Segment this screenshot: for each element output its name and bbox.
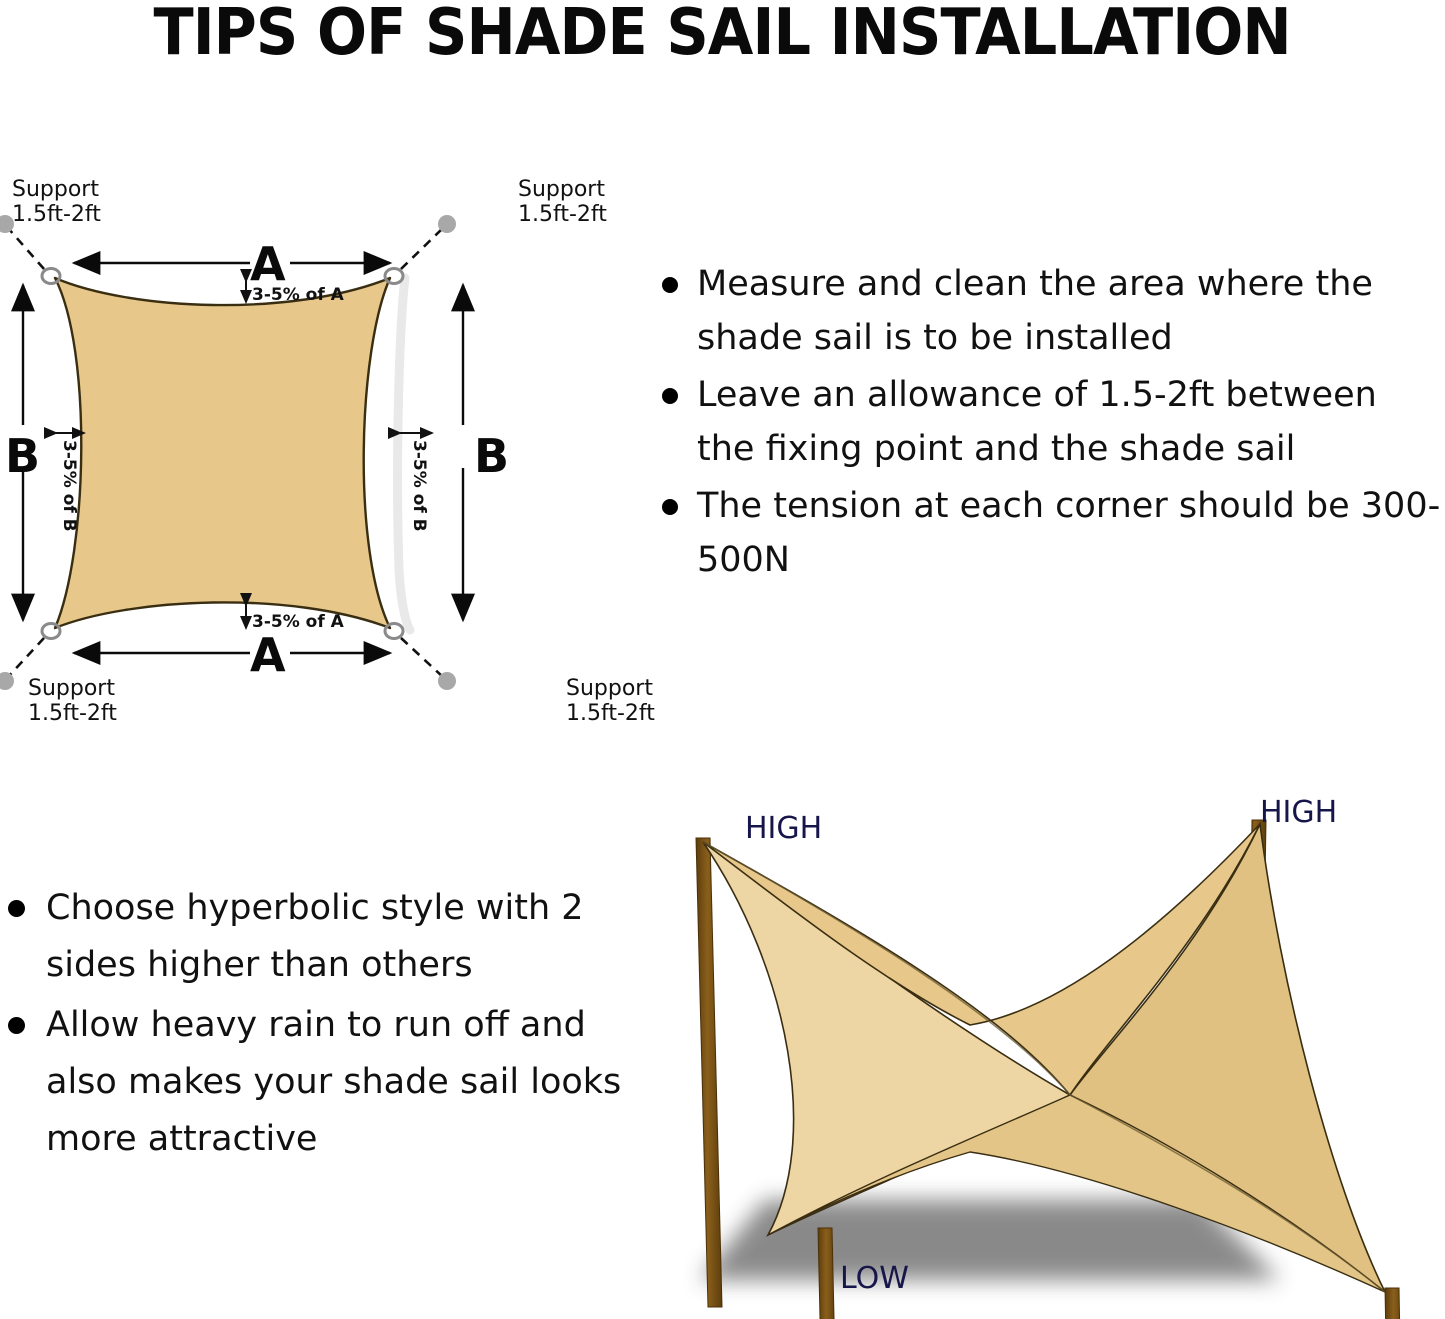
d-ring-bottom-left	[42, 624, 60, 639]
d-ring-top-left	[42, 269, 60, 284]
support-dot-bottom-right	[438, 672, 456, 690]
support-line-top-right	[401, 228, 443, 269]
curve-b-left-label: 3-5% of B	[59, 440, 79, 532]
list-item-text: Measure and clean the area where the sha…	[697, 264, 1373, 358]
d-ring-top-right	[385, 269, 403, 284]
support-bottom-right-line2: 1.5ft-2ft	[566, 701, 655, 726]
tips-list-bottom-left-ul: Choose hyperbolic style with 2 sides hig…	[0, 880, 625, 1167]
dimension-b-right: B	[463, 285, 509, 620]
support-line-bottom-right	[401, 638, 443, 677]
bullet-dot-icon	[662, 499, 678, 515]
sail-shape	[55, 278, 390, 628]
support-top-right-line2: 1.5ft-2ft	[518, 202, 607, 227]
label-low-left: LOW	[840, 1261, 909, 1296]
curve-a-bottom-label: 3-5% of A	[252, 612, 345, 632]
sail-edge-highlight	[398, 278, 410, 630]
list-item-text: Choose hyperbolic style with 2 sides hig…	[46, 888, 584, 985]
bullet-dot-icon	[8, 900, 25, 917]
post-front-right	[1385, 1288, 1404, 1319]
title-bar: TIPS OF SHADE SAIL INSTALLATION	[0, 0, 1445, 66]
label-high-left: HIGH	[745, 811, 822, 846]
dimension-a-top-label: A	[250, 237, 286, 291]
post-back-left	[696, 838, 722, 1307]
curve-b-right-label: 3-5% of B	[409, 440, 429, 532]
support-dot-top-right	[438, 215, 456, 233]
hyperbolic-sail-diagram: HIGH HIGH LOW LOW	[640, 780, 1445, 1319]
bullet-dot-icon	[662, 277, 678, 293]
list-item: Leave an allowance of 1.5-2ft between th…	[645, 369, 1445, 476]
curve-a-top-label: 3-5% of A	[252, 285, 345, 305]
dimension-a-bottom: A	[74, 628, 390, 682]
tips-list-right-ul: Measure and clean the area where the sha…	[645, 258, 1445, 587]
bullet-dot-icon	[662, 388, 678, 404]
support-dot-bottom-left	[0, 672, 14, 690]
list-item: Allow heavy rain to run off and also mak…	[0, 997, 625, 1167]
curve-a-top-annotation: 3-5% of A	[246, 281, 345, 305]
list-item-text: Leave an allowance of 1.5-2ft between th…	[697, 375, 1377, 469]
support-line-top-left	[8, 228, 44, 269]
list-item: Choose hyperbolic style with 2 sides hig…	[0, 880, 625, 993]
rectangular-sail-diagram: Support 1.5ft-2ft Support 1.5ft-2ft Supp…	[0, 150, 660, 750]
dimension-a-bottom-label: A	[250, 628, 286, 682]
support-line-bottom-left	[8, 638, 44, 677]
bullet-dot-icon	[8, 1017, 25, 1034]
support-top-left-line2: 1.5ft-2ft	[12, 202, 101, 227]
tips-list-right: Measure and clean the area where the sha…	[645, 258, 1445, 678]
dimension-b-left-label: B	[5, 429, 40, 483]
dimension-b-left: B	[5, 285, 40, 620]
list-item-text: Allow heavy rain to run off and also mak…	[46, 1005, 621, 1158]
list-item-text: The tension at each corner should be 300…	[697, 486, 1440, 580]
support-top-right-line1: Support	[518, 177, 605, 202]
list-item: Measure and clean the area where the sha…	[645, 258, 1445, 365]
curve-b-right-annotation: 3-5% of B	[400, 433, 432, 532]
support-top-left-line1: Support	[12, 177, 99, 202]
label-high-right: HIGH	[1260, 795, 1337, 830]
tips-list-bottom-left: Choose hyperbolic style with 2 sides hig…	[0, 880, 625, 1210]
curve-b-left-annotation: 3-5% of B	[56, 433, 84, 532]
page-title: TIPS OF SHADE SAIL INSTALLATION	[154, 1, 1291, 65]
dimension-b-right-label: B	[474, 429, 509, 483]
d-ring-bottom-right	[385, 624, 403, 639]
support-bottom-right-line1: Support	[566, 676, 653, 701]
list-item: The tension at each corner should be 300…	[645, 480, 1445, 587]
dimension-a-top: A	[74, 237, 390, 291]
support-bottom-left-line2: 1.5ft-2ft	[28, 701, 117, 726]
support-bottom-left-line1: Support	[28, 676, 115, 701]
